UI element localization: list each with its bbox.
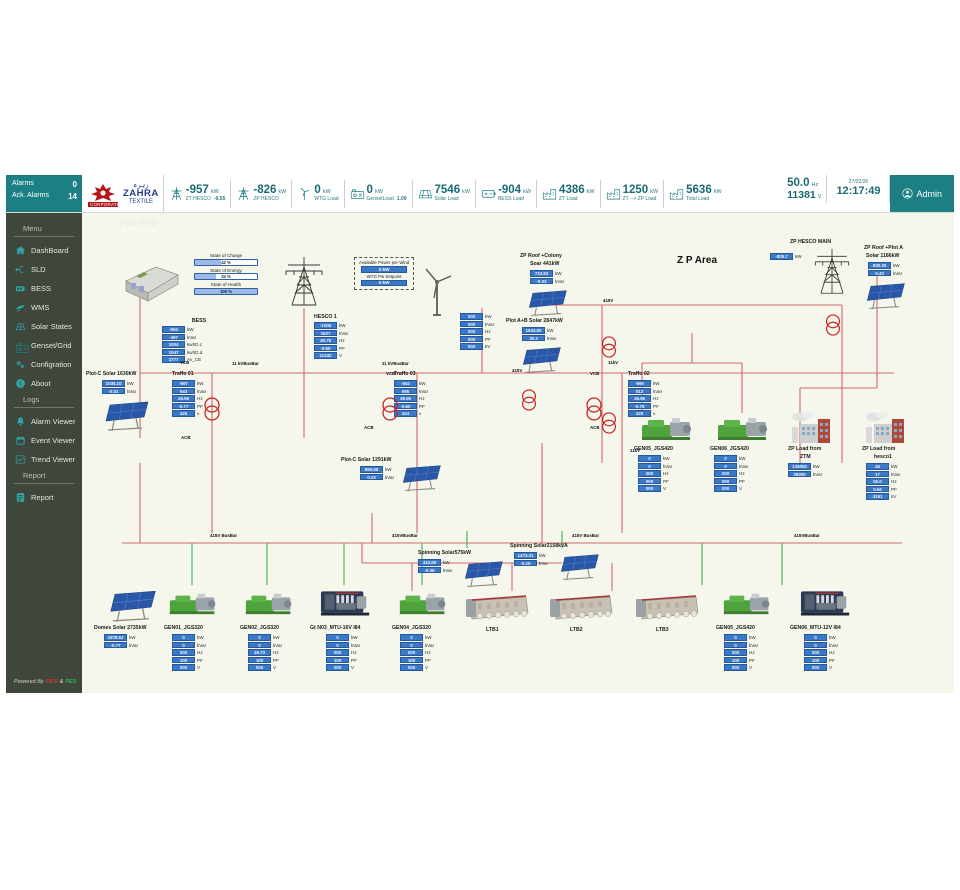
admin-button[interactable]: Admin — [890, 175, 954, 212]
metric-label: Solar Load — [435, 197, 459, 202]
sidebar-item-solar-states[interactable]: Solar States — [6, 317, 82, 336]
gen01-value-panel[interactable]: 0kW0kVar000Hz100PF000V — [172, 634, 206, 671]
sidebar: Menu DashBoardSLDBESSWMSSolar StatesGens… — [6, 213, 82, 693]
value-unit: kW — [891, 464, 898, 469]
state-bar-value: 100 % — [195, 289, 257, 294]
genset-dark-glyph-icon — [800, 585, 854, 619]
value-cell[interactable]: 28300 — [788, 471, 811, 478]
value-unit: kW — [749, 635, 756, 640]
value-unit: kVar — [197, 389, 206, 394]
value-cell[interactable]: -0.16 — [514, 560, 537, 567]
powered-by: Powered By OKS & PES — [14, 679, 76, 685]
value-cell[interactable]: 000 — [714, 470, 737, 477]
value-cell[interactable]: 0 — [804, 634, 827, 641]
value-cell[interactable]: 000 — [724, 664, 747, 671]
value-row: 723.83kW — [530, 270, 564, 277]
value-cell[interactable]: 1527 — [314, 330, 337, 337]
gen01-genset-icon[interactable] — [168, 588, 220, 623]
zp-load-ztm-value-panel[interactable]: 125000kW28300kVar — [788, 463, 822, 478]
sidebar-item-label: Event Viewer — [31, 436, 75, 445]
solar-panel-glyph-icon — [556, 552, 602, 582]
trend-icon — [15, 454, 26, 465]
zp-load-ztm-title1: ZP Load from — [788, 446, 821, 452]
tower-glyph-icon — [808, 247, 856, 297]
ltb3-turbine-icon[interactable] — [634, 591, 702, 630]
value-row: 0kVar — [172, 642, 206, 649]
sidebar-report-group: Report — [6, 488, 82, 507]
sidebar-report-header: Report — [14, 469, 74, 484]
value-row: 000Hz — [326, 649, 360, 656]
plotc-solar-1630-title: Plot-C Solar 1630kW — [86, 371, 136, 377]
metric-value: 0 — [314, 185, 320, 197]
zp-roof-plota-title1: ZP Roof +Plot A — [864, 245, 903, 251]
voltage-unit: V — [818, 195, 822, 201]
value-cell[interactable]: -904 — [162, 326, 185, 333]
value-cell[interactable]: 11342 — [314, 352, 337, 359]
traffo01-transformer-icon[interactable] — [200, 396, 224, 422]
plot-ab-solar-value-panel[interactable]: 1934.60kW30.3kVar — [522, 327, 556, 342]
sidebar-item-trend-viewer[interactable]: Trend Viewer — [6, 450, 82, 469]
value-cell[interactable]: 50.0 — [866, 478, 889, 485]
wind-turbine-icon[interactable] — [420, 265, 454, 322]
value-unit: V — [829, 665, 832, 670]
value-cell[interactable]: 49.78 — [314, 337, 337, 344]
value-cell[interactable]: 0 — [638, 463, 661, 470]
value-cell[interactable]: 0.94 — [866, 486, 889, 493]
value-unit: PF — [891, 487, 897, 492]
domes-solar-value-panel[interactable]: 1878.52kW-0.77kVar — [104, 634, 138, 649]
value-cell[interactable]: 000 — [172, 664, 195, 671]
gen05-bot-value-panel[interactable]: 0kW0kVar000Hz100PF000V — [724, 634, 758, 671]
wind-power-box[interactable]: Available Power per Wind 0 kW WTG Pw Set… — [354, 257, 414, 290]
value-row: 000kW — [460, 313, 494, 320]
value-cell[interactable]: 000 — [248, 664, 271, 671]
value-cell[interactable]: 000 — [714, 478, 737, 485]
sidebar-item-about[interactable]: About — [6, 374, 82, 393]
value-cell[interactable]: 000 — [460, 321, 483, 328]
value-cell[interactable]: 000 — [638, 470, 661, 477]
wind-turbine-icon — [297, 186, 312, 201]
value-cell[interactable]: 1004 — [162, 341, 185, 348]
value-row: 000Hz — [460, 328, 494, 335]
value-cell[interactable]: 100 — [172, 657, 195, 664]
value-cell[interactable]: -552 — [394, 380, 417, 387]
value-cell[interactable]: 000 — [460, 328, 483, 335]
zp-transformer-icon-1[interactable] — [598, 335, 620, 359]
metric-zt-hesco[interactable]: -957kWZT HESCO-0.55 — [164, 180, 232, 208]
spinning-2158-solar-icon[interactable] — [556, 552, 602, 587]
value-cell[interactable]: 45 — [866, 463, 889, 470]
value-cell[interactable]: 1878.52 — [104, 634, 127, 641]
value-cell[interactable]: 0 — [714, 455, 737, 462]
value-row: 100PF — [804, 657, 838, 664]
gen03-value-panel[interactable]: 0kW0kVar000Hz100PF000V — [326, 634, 360, 671]
zp-transformer-icon-3[interactable] — [518, 388, 540, 412]
zp-roof-colony-value-panel[interactable]: 723.83kW-0.33kVar — [530, 270, 564, 285]
metric-value: -957 — [186, 185, 209, 197]
metric-zt-zp-load[interactable]: 1250kWZT --> ZP Load — [601, 180, 665, 208]
value-cell[interactable]: 100 — [248, 657, 271, 664]
value-cell[interactable]: 000 — [326, 649, 349, 656]
value-unit: V — [749, 665, 752, 670]
value-cell[interactable]: 723.83 — [530, 270, 553, 277]
spinning-2158-title: Spinning Solar2158kVA — [510, 543, 568, 549]
sidebar-item-event-viewer[interactable]: Event Viewer — [6, 431, 82, 450]
wind-icon — [15, 302, 26, 313]
grid-tower-icon — [236, 186, 251, 201]
sidebar-item-configration[interactable]: Configration — [6, 355, 82, 374]
value-cell[interactable]: 49.73 — [248, 649, 271, 656]
value-cell[interactable]: 30.3 — [522, 335, 545, 342]
logo-glyph-icon — [89, 183, 117, 202]
value-cell[interactable]: -697 — [172, 380, 195, 387]
voltage-tag-415v-1: 415V — [603, 298, 613, 303]
value-unit: kVar — [547, 336, 556, 341]
value-cell[interactable]: 000 — [460, 343, 483, 350]
value-unit: Hz — [197, 650, 203, 655]
traffo01-acb-label: ACB — [181, 435, 191, 440]
value-cell[interactable]: 0 — [326, 642, 349, 649]
value-cell[interactable]: 1047 — [162, 349, 185, 356]
value-cell[interactable]: 543 — [172, 388, 195, 395]
plotc-solar-1630-panel-icon[interactable] — [100, 399, 152, 438]
value-cell[interactable]: -690 — [628, 380, 651, 387]
value-cell[interactable]: 0 — [326, 634, 349, 641]
zp-transformer-icon-2[interactable] — [598, 411, 620, 435]
value-unit: Hz — [419, 396, 425, 401]
hesco1-tower-icon[interactable] — [278, 255, 330, 314]
value-unit: kwhD.c — [187, 342, 202, 347]
genset-dark-glyph-icon — [320, 585, 374, 619]
plotc-solar-1291-panel-icon[interactable] — [398, 463, 444, 498]
value-row: 0kW — [172, 634, 206, 641]
value-row: 100PF — [326, 657, 360, 664]
sld-canvas[interactable]: Plot SLD Z P Area — [82, 213, 954, 693]
value-unit: V — [351, 665, 354, 670]
sidebar-menu-group: DashBoardSLDBESSWMSSolar StatesGenset/Gr… — [6, 241, 82, 393]
sidebar-item-genset-grid[interactable]: Genset/Grid — [6, 336, 82, 355]
alarms-label: Alarms — [12, 179, 34, 191]
spinning-2158-value-panel[interactable]: 1473.31kW-0.16kVar — [514, 552, 548, 567]
value-unit: kW — [829, 635, 836, 640]
value-row: 100PF — [172, 657, 206, 664]
metric-value: 1250 — [623, 185, 649, 197]
bess-container-icon[interactable] — [122, 263, 180, 310]
value-cell[interactable]: 100 — [400, 657, 423, 664]
metric-gensetload[interactable]: 0kWGensetLoad1.00 — [345, 180, 413, 208]
zp-hesco-main-tower-icon[interactable] — [808, 247, 856, 302]
value-row: 000V — [326, 664, 360, 671]
gen06-bot-value-panel[interactable]: 0kW0kVar000Hz100PF000V — [804, 634, 838, 671]
alarm-summary[interactable]: Alarms 0 Ack. Alarms 14 — [6, 175, 82, 212]
frequency-unit: Hz — [812, 183, 819, 189]
value-cell[interactable]: 000 — [638, 478, 661, 485]
gen03-genset-icon[interactable] — [320, 585, 374, 624]
value-cell[interactable]: 425 — [172, 410, 195, 417]
zp-hesco-main-title: ZP HESCO MAIN — [790, 239, 831, 245]
value-row: 1473.31kW — [514, 552, 548, 559]
zp-load-hesco1-factory-icon[interactable] — [862, 411, 910, 450]
metric-unit: kW — [278, 190, 286, 196]
value-cell[interactable]: -0.77 — [104, 642, 127, 649]
spinning-575-solar-icon[interactable] — [460, 559, 506, 594]
value-cell[interactable]: 125000 — [788, 463, 811, 470]
gen06-bot-title: GEN06_MTU-12V I84 — [790, 625, 841, 631]
value-row: -0.36kVar — [418, 567, 452, 574]
value-cell[interactable]: -0.78 — [628, 403, 651, 410]
value-row: -0.55PF — [314, 345, 348, 352]
state-bar-2: State of Health100 % — [194, 282, 258, 295]
value-row: 000V — [638, 485, 672, 492]
value-cell[interactable]: 1035.10 — [102, 380, 125, 387]
value-unit: kVar — [663, 464, 672, 469]
factory-icon — [542, 186, 557, 201]
value-cell[interactable]: 410.69 — [418, 559, 441, 566]
sidebar-item-dashboard[interactable]: DashBoard — [6, 241, 82, 260]
gen05-bot-genset-icon[interactable] — [722, 588, 774, 623]
value-unit: PF — [663, 479, 669, 484]
state-bar-0: State of Charge42 % — [194, 253, 258, 266]
metric-zt-load[interactable]: 4386kWZT Load — [537, 180, 601, 208]
value-row: 11342V — [314, 352, 348, 359]
ack-alarms-label: Ack. Alarms — [12, 191, 49, 203]
value-cell[interactable]: 0 — [400, 634, 423, 641]
sidebar-logs-header: Logs — [14, 393, 74, 408]
tower-glyph-icon — [278, 255, 330, 309]
value-cell[interactable]: 000 — [638, 485, 661, 492]
clock-time: 12:17:49 — [836, 185, 880, 199]
domes-solar-icon[interactable] — [104, 588, 160, 629]
value-row: -697kW — [172, 380, 206, 387]
state-bar-track: 100 % — [194, 288, 258, 295]
bus-label-415v-1: 415V BusBar — [210, 533, 237, 538]
gen06-zp-value-panel[interactable]: 0kW0kVar000Hz000PF000V — [714, 455, 748, 492]
value-cell[interactable]: 0 — [172, 634, 195, 641]
sidebar-item-alarm-viewer[interactable]: Alarm Viewer — [6, 412, 82, 431]
alarms-count: 0 — [73, 179, 77, 191]
value-cell[interactable]: 1934.60 — [522, 327, 545, 334]
value-row: 830.30kW — [868, 262, 902, 269]
gen02-title: GEN02_JGS320 — [240, 625, 279, 631]
value-unit: kW — [385, 467, 392, 472]
state-bar-value: 34 % — [195, 274, 257, 279]
sidebar-item-label: SLD — [31, 265, 46, 274]
value-cell[interactable]: -0.31 — [102, 388, 125, 395]
value-cell[interactable]: 49.96 — [172, 395, 195, 402]
value-cell[interactable]: 000 — [400, 664, 423, 671]
value-row: -904kW — [162, 326, 202, 333]
bess-value-panel[interactable]: -904kW-497kVar1004kwhD.c1047kwhD.d1777Av… — [162, 326, 202, 363]
value-cell[interactable]: 0.23 — [360, 474, 383, 481]
value-cell[interactable]: 830.30 — [868, 262, 891, 269]
value-row: -497kVar — [162, 334, 202, 341]
solar-panel-glyph-icon — [398, 463, 444, 493]
info-icon — [15, 378, 26, 389]
sidebar-item-label: Solar States — [31, 322, 72, 331]
value-cell[interactable]: 860.98 — [360, 466, 383, 473]
value-cell[interactable]: 0 — [714, 463, 737, 470]
metric-label: ZP HESCO — [253, 197, 278, 202]
value-unit: Hz — [891, 479, 897, 484]
value-cell[interactable]: 512 — [628, 388, 651, 395]
value-cell[interactable]: -0.36 — [418, 567, 441, 574]
gen06-bot-genset-icon[interactable] — [800, 585, 854, 624]
value-cell[interactable]: 100 — [804, 657, 827, 664]
metric-bess-load[interactable]: -904kWBESS Load — [476, 180, 537, 208]
value-cell[interactable]: 100 — [326, 657, 349, 664]
value-cell[interactable]: -0.77 — [172, 403, 195, 410]
value-unit: kVar — [129, 643, 138, 648]
value-row: 100PF — [400, 657, 434, 664]
sidebar-item-sld[interactable]: SLD — [6, 260, 82, 279]
sidebar-menu-header: Menu — [14, 222, 74, 237]
sidebar-logs-group: Alarm ViewerEvent ViewerTrend Viewer — [6, 412, 82, 469]
zp-hesco-main-value-panel[interactable]: -825.7kW — [770, 253, 802, 260]
gen04-genset-icon[interactable] — [398, 588, 450, 623]
sld-icon — [15, 264, 26, 275]
brand-subtitle: TEXTILE — [129, 199, 153, 205]
value-unit: kW — [795, 254, 802, 259]
value-cell[interactable]: 49.96 — [628, 395, 651, 402]
value-unit: kW — [539, 553, 546, 558]
value-cell[interactable]: 0.43 — [868, 270, 891, 277]
value-cell[interactable]: -0.55 — [314, 345, 337, 352]
factory-glyph-icon — [788, 411, 836, 445]
powered-prefix: Powered By — [14, 679, 44, 685]
value-row: 860.98kW — [360, 466, 394, 473]
value-cell[interactable]: 000 — [400, 649, 423, 656]
value-unit: kW — [653, 381, 660, 386]
value-cell[interactable]: -1005 — [314, 322, 337, 329]
sidebar-item-label: Genset/Grid — [31, 341, 71, 350]
metric-frequency-voltage[interactable]: 50.0 Hz 11381 V — [782, 175, 827, 203]
gen02-value-panel[interactable]: 0kW0kVar49.73Hz100PF000V — [248, 634, 282, 671]
metric-total-load[interactable]: 5636kWTotal Load — [664, 180, 727, 208]
value-cell[interactable]: 0 — [804, 642, 827, 649]
zp-load-ztm-factory-icon[interactable] — [788, 411, 836, 450]
gen06-zp-genset-icon[interactable] — [716, 413, 772, 448]
metric-extra: 1.00 — [397, 197, 407, 202]
value-row: 000V — [172, 664, 206, 671]
value-cell[interactable]: 0 — [724, 642, 747, 649]
metric-value: -904 — [498, 185, 521, 197]
value-cell[interactable]: 000 — [172, 649, 195, 656]
powered-amp: & — [60, 679, 64, 685]
gen02-genset-icon[interactable] — [244, 588, 296, 623]
ltb2-turbine-icon[interactable] — [548, 591, 616, 630]
voltage-value: 11381 — [787, 190, 816, 201]
value-cell[interactable]: 0 — [638, 455, 661, 462]
traffo03-transformer-icon[interactable] — [378, 396, 402, 422]
value-row: 000Hz — [638, 470, 672, 477]
value-unit: kW — [127, 381, 134, 386]
brand-name: ZAHRA — [123, 189, 159, 199]
sidebar-item-bess[interactable]: BESS — [6, 279, 82, 298]
ack-alarms-count: 14 — [68, 191, 77, 203]
traffo02-value-panel[interactable]: -690kW512kVar49.96Hz-0.78PF425v — [628, 380, 662, 417]
zp-hesco-transformer-icon[interactable] — [822, 313, 844, 337]
plotc-solar-1291-value-panel[interactable]: 860.98kW0.23kVar — [360, 466, 394, 481]
gears-icon — [15, 359, 26, 370]
metric-label: ZT --> ZP Load — [623, 197, 657, 202]
gen05-zp-genset-icon[interactable] — [640, 413, 696, 448]
value-unit: Hz — [425, 650, 431, 655]
value-row: 0kVar — [638, 463, 672, 470]
metric-unit: kW — [523, 190, 531, 196]
value-cell[interactable]: 1473.31 — [514, 552, 537, 559]
value-cell[interactable]: 000 — [460, 336, 483, 343]
mid-upper-value-panel[interactable]: 000kW000kVar000Hz000PF000kV — [460, 313, 494, 350]
zp-load-ztm-title2: ZTM — [800, 454, 811, 460]
value-cell[interactable]: 4191 — [866, 493, 889, 500]
value-cell[interactable]: 17 — [866, 471, 889, 478]
value-cell[interactable]: 000 — [724, 649, 747, 656]
gen04-value-panel[interactable]: 0kW0kVar000Hz100PF000V — [400, 634, 434, 671]
value-cell[interactable]: 695 — [394, 388, 417, 395]
metric-label: GensetLoad — [367, 197, 394, 202]
ltb1-label: LTB1 — [486, 627, 499, 633]
value-cell[interactable]: 0 — [172, 642, 195, 649]
value-cell[interactable]: 0 — [724, 634, 747, 641]
metric-unit: kW — [714, 190, 722, 196]
value-row: 695kVar — [394, 388, 428, 395]
bess-state-bars: State of Charge42 %State of Energy34 %St… — [194, 253, 258, 297]
value-cell[interactable]: 000 — [714, 485, 737, 492]
value-cell[interactable]: 0 — [248, 634, 271, 641]
sidebar-item-label: DashBoard — [31, 246, 69, 255]
clock: 27/02/26 12:17:49 — [827, 175, 890, 203]
value-cell[interactable]: -825.7 — [770, 253, 793, 260]
sidebar-item-report[interactable]: Report — [6, 488, 82, 507]
value-row: 4191kV — [866, 493, 900, 500]
value-cell[interactable]: 000 — [804, 664, 827, 671]
value-row: 000Hz — [714, 470, 748, 477]
value-cell[interactable]: 000 — [326, 664, 349, 671]
value-row: 000kV — [460, 343, 494, 350]
hesco1-title: HESCO 1 — [314, 314, 337, 320]
sidebar-item-wms[interactable]: WMS — [6, 298, 82, 317]
value-cell[interactable]: 100 — [724, 657, 747, 664]
plotc-solar-1630-value-panel[interactable]: 1035.10kW-0.31kVar — [102, 380, 136, 395]
zp-load-hesco1-title2: hesco1 — [874, 454, 892, 460]
value-row: 0.94PF — [866, 486, 900, 493]
value-unit: Hz — [739, 471, 745, 476]
value-row: 50.0Hz — [866, 478, 900, 485]
value-cell[interactable]: 0 — [248, 642, 271, 649]
value-cell[interactable]: 000 — [460, 313, 483, 320]
value-cell[interactable]: -0.33 — [530, 278, 553, 285]
zp-roof-plota-solar-icon[interactable] — [862, 281, 908, 316]
spinning-575-value-panel[interactable]: 410.69kW-0.36kVar — [418, 559, 452, 574]
value-cell[interactable]: -497 — [162, 334, 185, 341]
metric-wtg-load[interactable]: 0kWWTG Load — [292, 180, 344, 208]
solar-panel-glyph-icon — [862, 281, 908, 311]
value-row: 125000kW — [788, 463, 822, 470]
metric-solar-load[interactable]: 7546kWSolar Load — [413, 180, 477, 208]
gen05-zp-value-panel[interactable]: 0kW0kVar000Hz000PF000V — [638, 455, 672, 492]
powered-oks: OKS — [46, 679, 58, 685]
value-unit: PF — [197, 658, 203, 663]
bus-label-415v-2: 415VBusBar — [392, 533, 418, 538]
zp-load-hesco1-value-panel[interactable]: 45kW17kVar50.0Hz0.94PF4191kV — [866, 463, 900, 500]
value-cell[interactable]: 0 — [400, 642, 423, 649]
metric-zp-hesco[interactable]: -826kWZP HESCO — [231, 180, 292, 208]
ltb1-turbine-icon[interactable] — [464, 591, 532, 630]
plot-ab-solar-icon[interactable] — [518, 345, 564, 380]
hesco1-value-panel[interactable]: -1005kW1527kVar49.78Hz-0.55PF11342V — [314, 322, 348, 359]
zp-roof-plota-value-panel[interactable]: 830.30kW0.43kVar — [868, 262, 902, 277]
value-cell[interactable]: 000 — [804, 649, 827, 656]
